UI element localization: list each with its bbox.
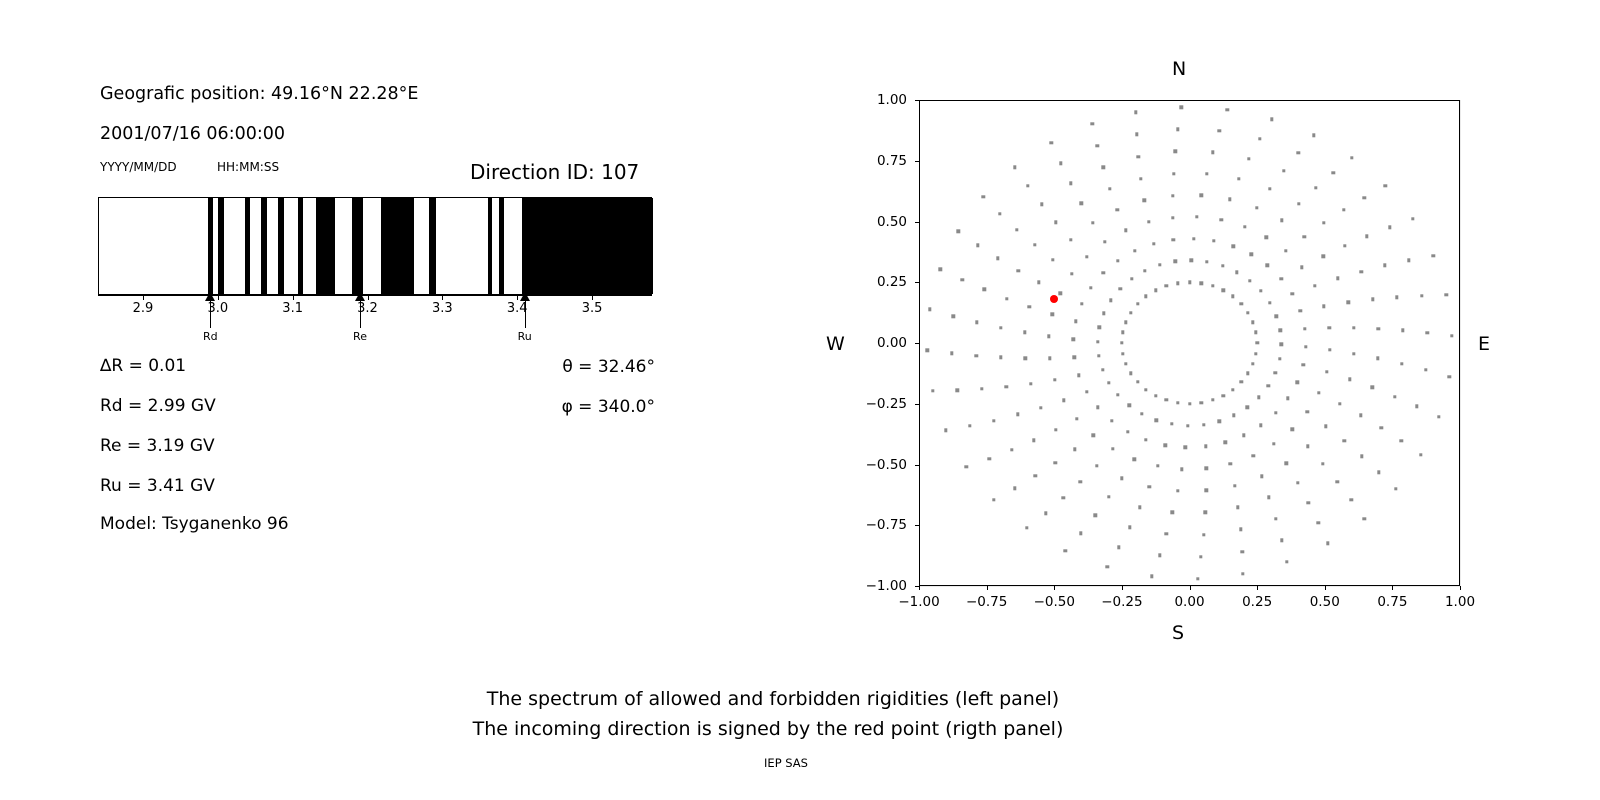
polar-grid-dot <box>1317 521 1320 524</box>
polar-x-tick <box>1054 586 1055 590</box>
polar-grid-dot <box>1278 357 1281 360</box>
polar-grid-dot <box>1235 271 1238 274</box>
polar-grid-dot <box>988 457 991 460</box>
polar-grid-dot <box>1280 538 1283 541</box>
polar-grid-dot <box>983 288 986 291</box>
polar-grid-dot <box>999 326 1002 329</box>
polar-grid-dot <box>1091 221 1094 224</box>
polar-grid-dot <box>1445 293 1448 296</box>
polar-grid-dot <box>1306 410 1309 413</box>
polar-grid-dot <box>1313 284 1316 287</box>
polar-grid-dot <box>1101 271 1104 274</box>
polar-y-tick <box>915 282 919 283</box>
polar-grid-dot <box>1134 111 1137 114</box>
polar-grid-dot <box>928 307 931 310</box>
polar-grid-dot <box>1322 254 1325 257</box>
polar-grid-dot <box>1107 495 1110 498</box>
polar-grid-dot <box>1028 305 1031 308</box>
polar-grid-dot <box>1291 428 1294 431</box>
polar-grid-dot <box>1304 345 1307 348</box>
polar-y-tick <box>915 404 919 405</box>
polar-grid-dot <box>1059 162 1062 165</box>
polar-grid-dot <box>1129 372 1132 375</box>
forbidden-band <box>316 198 335 294</box>
polar-grid-dot <box>1236 506 1239 509</box>
polar-grid-dot <box>1174 150 1177 153</box>
polar-grid-dot <box>1225 108 1228 111</box>
polar-grid-dot <box>1395 295 1398 298</box>
polar-grid-dot <box>1322 221 1325 224</box>
polar-grid-dot <box>1360 455 1363 458</box>
polar-grid-dot <box>1259 424 1262 427</box>
polar-grid-dot <box>1128 526 1131 529</box>
polar-grid-dot <box>1165 284 1168 287</box>
polar-grid-dot <box>1180 106 1183 109</box>
polar-grid-dot <box>1332 171 1335 174</box>
polar-grid-dot <box>1240 302 1243 305</box>
polar-grid-dot <box>1093 514 1096 517</box>
polar-grid-dot <box>1070 272 1073 275</box>
polar-grid-dot <box>1211 284 1214 287</box>
polar-grid-dot <box>1158 263 1161 266</box>
polar-grid-dot <box>1048 356 1051 359</box>
polar-grid-dot <box>1120 341 1123 344</box>
marker-arrow-shaft <box>360 300 361 328</box>
polar-grid-dot <box>1447 375 1450 378</box>
polar-grid-dot <box>1118 287 1121 290</box>
forbidden-band <box>488 198 492 294</box>
polar-grid-dot <box>1172 172 1175 175</box>
polar-grid-dot <box>1173 260 1176 263</box>
marker-arrow-head <box>355 292 365 301</box>
polar-grid-dot <box>1135 133 1138 136</box>
polar-grid-dot <box>1110 419 1113 422</box>
direction-id-label: Direction ID: 107 <box>470 160 639 184</box>
polar-grid-dot <box>1085 255 1088 258</box>
forbidden-band <box>218 198 225 294</box>
param-ru: Ru = 3.41 GV <box>100 476 215 496</box>
polar-grid-dot <box>1265 235 1268 238</box>
polar-grid-dot <box>1139 177 1142 180</box>
polar-grid-dot <box>1117 546 1120 549</box>
polar-x-tick-label: 0.75 <box>1377 594 1407 610</box>
polar-grid-dot <box>1437 415 1440 418</box>
polar-grid-dot <box>1034 474 1037 477</box>
forbidden-band <box>278 198 284 294</box>
date-format-hint: YYYY/MM/DD <box>100 160 177 174</box>
marker-label-ru: Ru <box>518 330 532 343</box>
polar-x-tick <box>1392 586 1393 590</box>
polar-grid-dot <box>1363 196 1366 199</box>
polar-grid-dot <box>1247 157 1250 160</box>
polar-grid-dot <box>1307 501 1310 504</box>
polar-grid-dot <box>1095 464 1098 467</box>
polar-grid-dot <box>1426 331 1429 334</box>
polar-grid-dot <box>960 278 963 281</box>
polar-plot-frame <box>919 100 1460 586</box>
polar-grid-dot <box>1342 208 1345 211</box>
polar-x-tick-label: −1.00 <box>898 594 939 610</box>
polar-grid-dot <box>965 465 968 468</box>
polar-grid-dot <box>1232 414 1235 417</box>
polar-grid-dot <box>1029 382 1032 385</box>
polar-grid-dot <box>1246 406 1249 409</box>
polar-grid-dot <box>1254 352 1257 355</box>
polar-grid-dot <box>1300 265 1303 268</box>
polar-y-tick <box>915 100 919 101</box>
polar-x-tick <box>919 586 920 590</box>
polar-grid-dot <box>1200 281 1203 284</box>
polar-grid-dot <box>1231 388 1234 391</box>
polar-grid-dot <box>1202 533 1205 536</box>
polar-grid-dot <box>1218 129 1221 132</box>
polar-grid-dot <box>1023 331 1026 334</box>
polar-grid-dot <box>1251 362 1254 365</box>
polar-grid-dot <box>944 429 947 432</box>
polar-grid-dot <box>1108 187 1111 190</box>
spectrum-x-axis <box>98 295 652 296</box>
polar-grid-dot <box>1062 398 1065 401</box>
polar-grid-dot <box>1328 348 1331 351</box>
polar-grid-dot <box>1176 128 1179 131</box>
polar-grid-dot <box>996 257 999 260</box>
polar-grid-dot <box>1124 229 1127 232</box>
polar-grid-dot <box>1343 244 1346 247</box>
polar-grid-dot <box>1324 424 1327 427</box>
polar-grid-dot <box>1109 299 1112 302</box>
polar-grid-dot <box>1272 442 1275 445</box>
polar-y-tick <box>915 161 919 162</box>
polar-grid-dot <box>1239 528 1242 531</box>
polar-grid-dot <box>1432 254 1435 257</box>
polar-grid-dot <box>1450 334 1453 337</box>
forbidden-band <box>429 198 436 294</box>
polar-grid-dot <box>1171 511 1174 514</box>
polar-grid-dot <box>1280 343 1283 346</box>
polar-grid-dot <box>1054 428 1057 431</box>
polar-y-tick <box>915 343 919 344</box>
param-phi: φ = 340.0° <box>455 397 655 417</box>
polar-grid-dot <box>1280 277 1283 280</box>
polar-grid-dot <box>1103 240 1106 243</box>
polar-grid-dot <box>1220 218 1223 221</box>
direction-label-south: S <box>1172 622 1184 644</box>
polar-grid-dot <box>1172 238 1175 241</box>
polar-grid-dot <box>926 348 929 351</box>
polar-grid-dot <box>1143 269 1146 272</box>
spectrum-tick-label: 3.5 <box>582 301 603 316</box>
polar-grid-dot <box>939 267 942 270</box>
polar-grid-dot <box>1349 498 1352 501</box>
polar-grid-dot <box>1013 487 1016 490</box>
direction-label-east: E <box>1478 333 1490 355</box>
polar-x-tick-label: −0.50 <box>1034 594 1075 610</box>
polar-y-tick <box>915 465 919 466</box>
polar-grid-dot <box>1257 396 1260 399</box>
polar-grid-dot <box>1176 489 1179 492</box>
polar-grid-dot <box>1204 445 1207 448</box>
polar-grid-dot <box>1415 405 1418 408</box>
polar-y-tick-label: 0.25 <box>847 274 907 290</box>
polar-grid-dot <box>1037 281 1040 284</box>
polar-grid-dot <box>1150 575 1153 578</box>
spectrum-tick <box>143 296 144 300</box>
polar-grid-dot <box>1069 182 1072 185</box>
forbidden-band <box>352 198 362 294</box>
polar-grid-dot <box>1376 327 1379 330</box>
spectrum-tick <box>368 296 369 300</box>
polar-grid-dot <box>1205 260 1208 263</box>
polar-grid-dot <box>1274 371 1277 374</box>
polar-grid-dot <box>1133 249 1136 252</box>
polar-grid-dot <box>1085 390 1088 393</box>
polar-grid-dot <box>1089 286 1092 289</box>
polar-grid-dot <box>1242 434 1245 437</box>
polar-grid-dot <box>1062 496 1065 499</box>
polar-x-tick-label: 0.25 <box>1242 594 1272 610</box>
polar-grid-dot <box>1399 439 1402 442</box>
direction-label-west: W <box>826 333 845 355</box>
polar-grid-dot <box>1218 419 1221 422</box>
param-model: Model: Tsyganenko 96 <box>100 514 289 534</box>
forbidden-band <box>298 198 303 294</box>
polar-grid-dot <box>1284 249 1287 252</box>
polar-grid-dot <box>1338 402 1341 405</box>
polar-grid-dot <box>1133 458 1136 461</box>
polar-grid-dot <box>1195 215 1198 218</box>
polar-grid-dot <box>1255 206 1258 209</box>
polar-y-tick-label: 0.75 <box>847 153 907 169</box>
polar-x-tick <box>1460 586 1461 590</box>
polar-grid-dot <box>1250 253 1253 256</box>
forbidden-band <box>499 198 504 294</box>
polar-grid-dot <box>1116 393 1119 396</box>
polar-grid-dot <box>1343 439 1346 442</box>
polar-grid-dot <box>1317 391 1320 394</box>
polar-grid-dot <box>1393 395 1396 398</box>
polar-grid-dot <box>1138 505 1141 508</box>
polar-grid-dot <box>1176 401 1179 404</box>
polar-grid-dot <box>1241 572 1244 575</box>
polar-grid-dot <box>1336 480 1339 483</box>
polar-x-tick-label: 0.00 <box>1174 594 1204 610</box>
polar-grid-dot <box>1371 386 1374 389</box>
polar-grid-dot <box>1188 402 1191 405</box>
polar-grid-dot <box>1411 217 1414 220</box>
polar-grid-dot <box>1121 352 1124 355</box>
polar-grid-dot <box>1407 258 1410 261</box>
polar-grid-dot <box>1040 203 1043 206</box>
polar-grid-dot <box>1143 199 1146 202</box>
polar-grid-dot <box>1267 496 1270 499</box>
polar-grid-dot <box>1015 228 1018 231</box>
polar-y-tick <box>915 222 919 223</box>
polar-grid-dot <box>1336 277 1339 280</box>
polar-grid-dot <box>1192 237 1195 240</box>
polar-grid-dot <box>1054 221 1057 224</box>
polar-grid-dot <box>1365 234 1368 237</box>
polar-grid-dot <box>1102 166 1105 169</box>
polar-grid-dot <box>1144 438 1147 441</box>
forbidden-band <box>522 198 653 294</box>
polar-grid-dot <box>1080 302 1083 305</box>
polar-grid-dot <box>1186 424 1189 427</box>
polar-grid-dot <box>1221 264 1224 267</box>
polar-grid-dot <box>1101 368 1104 371</box>
polar-grid-dot <box>1327 326 1330 329</box>
polar-grid-dot <box>1044 512 1047 515</box>
polar-grid-dot <box>1196 577 1199 580</box>
polar-grid-dot <box>1106 565 1109 568</box>
polar-grid-dot <box>1383 264 1386 267</box>
polar-grid-dot <box>1298 309 1301 312</box>
footer-label: IEP SAS <box>764 756 808 770</box>
polar-x-tick-label: 1.00 <box>1445 594 1475 610</box>
polar-grid-dot <box>1321 462 1324 465</box>
polar-grid-dot <box>1079 531 1082 534</box>
polar-grid-dot <box>1137 155 1140 158</box>
polar-grid-dot <box>1073 356 1076 359</box>
polar-grid-dot <box>1296 481 1299 484</box>
polar-grid-dot <box>1297 151 1300 154</box>
polar-grid-dot <box>1243 225 1246 228</box>
polar-grid-dot <box>1251 454 1254 457</box>
polar-x-tick <box>1122 586 1123 590</box>
polar-x-tick <box>1257 586 1258 590</box>
spectrum-bar <box>98 197 652 295</box>
polar-y-tick-label: −0.75 <box>847 517 907 533</box>
polar-grid-dot <box>1266 264 1269 267</box>
polar-grid-dot <box>1251 321 1254 324</box>
polar-grid-dot <box>1152 242 1155 245</box>
polar-grid-dot <box>1401 329 1404 332</box>
polar-grid-dot <box>1306 444 1309 447</box>
polar-grid-dot <box>1200 193 1203 196</box>
polar-grid-dot <box>1073 448 1076 451</box>
polar-grid-dot <box>1005 385 1008 388</box>
forbidden-band <box>208 198 213 294</box>
polar-grid-dot <box>1126 430 1129 433</box>
polar-grid-dot <box>1077 373 1080 376</box>
polar-grid-dot <box>1147 220 1150 223</box>
polar-x-tick <box>1190 586 1191 590</box>
polar-grid-dot <box>1205 467 1208 470</box>
polar-grid-dot <box>1394 487 1397 490</box>
polar-grid-dot <box>1347 301 1350 304</box>
datetime-label: 2001/07/16 06:00:00 <box>100 124 285 144</box>
polar-direction-chart <box>919 100 1460 586</box>
polar-grid-dot <box>992 419 995 422</box>
polar-grid-dot <box>1377 471 1380 474</box>
param-theta: θ = 32.46° <box>455 357 655 377</box>
polar-grid-dot <box>1098 325 1101 328</box>
polar-grid-dot <box>1359 414 1362 417</box>
polar-grid-dot <box>1053 378 1056 381</box>
polar-grid-dot <box>1211 150 1214 153</box>
polar-grid-dot <box>1303 235 1306 238</box>
polar-y-tick-label: 1.00 <box>847 92 907 108</box>
polar-grid-dot <box>1107 381 1110 384</box>
polar-grid-dot <box>1127 404 1130 407</box>
polar-grid-dot <box>1325 370 1328 373</box>
polar-grid-dot <box>1032 438 1035 441</box>
polar-grid-dot <box>1016 413 1019 416</box>
polar-grid-dot <box>1419 453 1422 456</box>
polar-grid-dot <box>1254 331 1257 334</box>
polar-gridline-vertical <box>1460 100 1461 586</box>
polar-grid-dot <box>1050 141 1053 144</box>
polar-grid-dot <box>1312 134 1315 137</box>
polar-grid-dot <box>1224 441 1227 444</box>
polar-grid-dot <box>1424 368 1427 371</box>
polar-grid-dot <box>1360 270 1363 273</box>
polar-grid-dot <box>1130 277 1133 280</box>
polar-x-tick-label: −0.75 <box>966 594 1007 610</box>
polar-grid-dot <box>950 352 953 355</box>
polar-grid-dot <box>1165 532 1168 535</box>
spectrum-tick <box>218 296 219 300</box>
polar-grid-dot <box>1047 334 1050 337</box>
polar-grid-dot <box>1284 461 1287 464</box>
polar-grid-dot <box>1024 356 1027 359</box>
polar-grid-dot <box>1202 423 1205 426</box>
polar-grid-dot <box>1176 281 1179 284</box>
polar-grid-dot <box>1051 313 1054 316</box>
polar-grid-dot <box>1140 412 1143 415</box>
polar-grid-dot <box>1322 305 1325 308</box>
polar-grid-dot <box>1189 259 1192 262</box>
polar-grid-dot <box>1205 489 1208 492</box>
spectrum-tick <box>293 296 294 300</box>
polar-grid-dot <box>1171 194 1174 197</box>
polar-grid-dot <box>1013 165 1016 168</box>
polar-grid-dot <box>1144 388 1147 391</box>
polar-grid-dot <box>1376 357 1379 360</box>
polar-grid-dot <box>1231 244 1234 247</box>
polar-grid-dot <box>1074 319 1077 322</box>
polar-y-tick-label: −0.50 <box>847 457 907 473</box>
polar-grid-dot <box>1400 362 1403 365</box>
forbidden-band <box>261 198 267 294</box>
polar-grid-dot <box>1211 398 1214 401</box>
polar-grid-dot <box>1275 314 1278 317</box>
polar-grid-dot <box>1051 258 1054 261</box>
polar-grid-dot <box>1246 372 1249 375</box>
polar-grid-dot <box>1222 394 1225 397</box>
polar-grid-dot <box>1303 327 1306 330</box>
forbidden-band <box>381 198 414 294</box>
polar-grid-dot <box>1352 326 1355 329</box>
polar-grid-dot <box>1205 172 1208 175</box>
spectrum-tick-label: 3.1 <box>282 301 303 316</box>
spectrum-tick-label: 2.9 <box>133 301 154 316</box>
polar-grid-dot <box>1116 259 1119 262</box>
polar-grid-dot <box>1116 208 1119 211</box>
polar-grid-dot <box>1302 363 1305 366</box>
polar-grid-dot <box>1148 485 1151 488</box>
polar-grid-dot <box>1240 550 1243 553</box>
polar-grid-dot <box>1154 394 1157 397</box>
polar-grid-dot <box>1096 340 1099 343</box>
polar-grid-dot <box>975 321 978 324</box>
polar-grid-dot <box>1158 553 1161 556</box>
polar-grid-dot <box>957 230 960 233</box>
polar-grid-dot <box>1280 219 1283 222</box>
polar-grid-dot <box>1258 137 1261 140</box>
polar-grid-dot <box>1199 555 1202 558</box>
polar-grid-dot <box>1129 311 1132 314</box>
spectrum-tick <box>517 296 518 300</box>
